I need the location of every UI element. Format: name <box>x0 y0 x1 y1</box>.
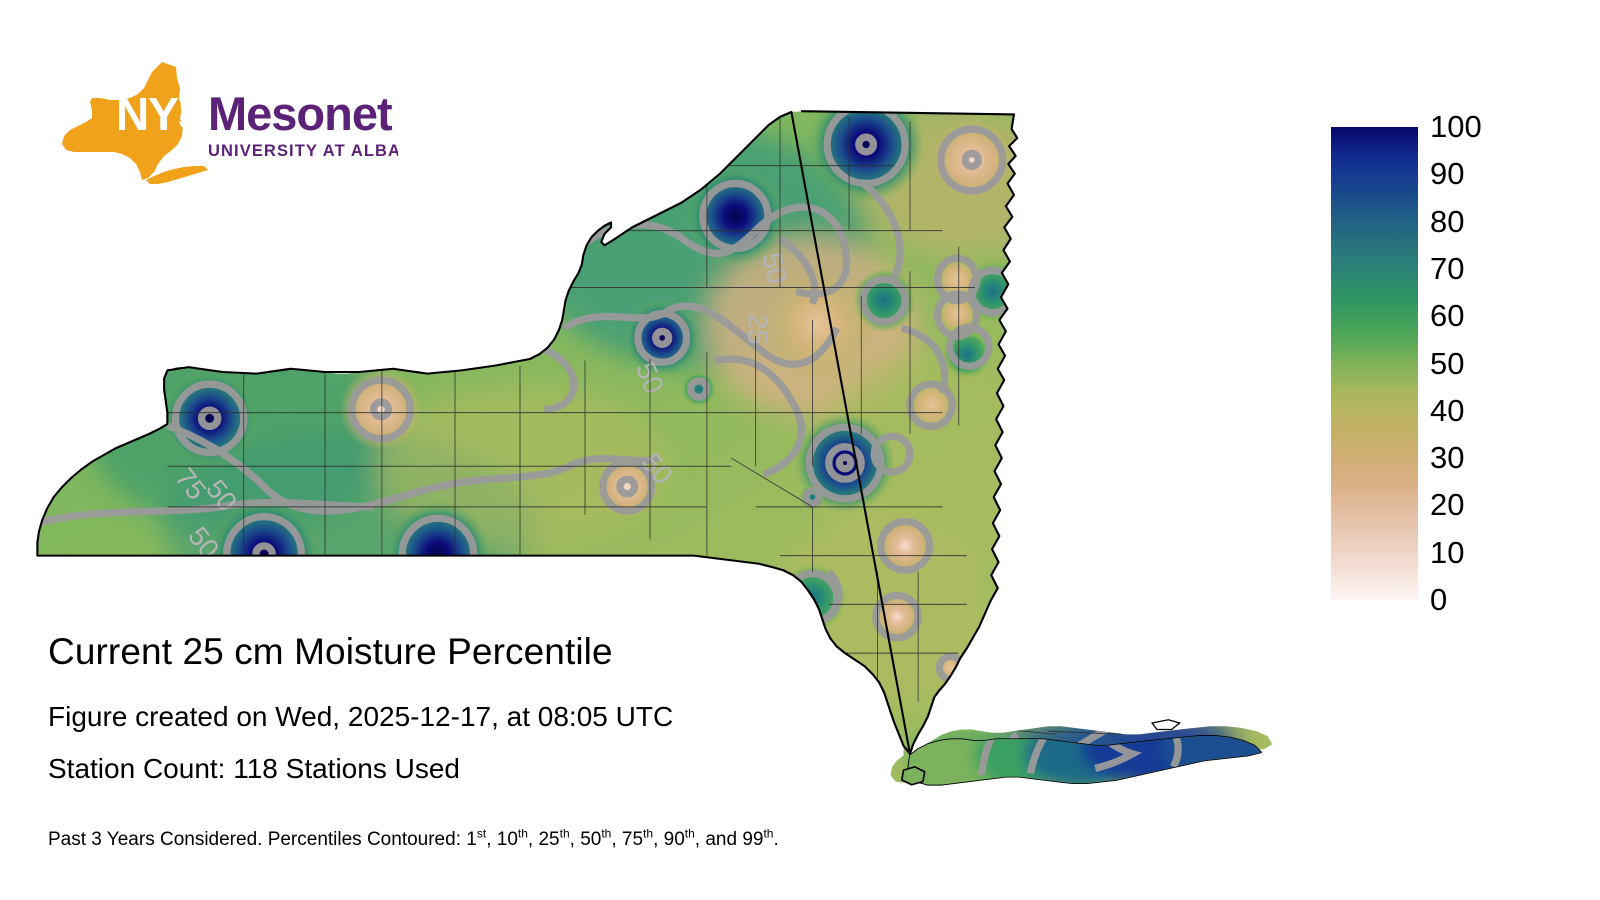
logo-mesonet-text: Mesonet <box>208 87 393 140</box>
percentile-value: 10 <box>497 829 518 850</box>
percentile-value: 99 <box>742 829 763 850</box>
long-island <box>894 713 1284 799</box>
percentile-value: 1 <box>466 829 477 850</box>
colorbar-tick-10: 10 <box>1430 537 1464 568</box>
colorbar-tick-80: 80 <box>1430 206 1464 237</box>
ordinal-suffix: th <box>685 827 695 841</box>
creation-timestamp: Figure created on Wed, 2025-12-17, at 08… <box>48 700 673 734</box>
percentile-footnote: Past 3 Years Considered. Percentiles Con… <box>48 828 779 852</box>
colorbar-tick-30: 30 <box>1430 442 1464 473</box>
page-title: Current 25 cm Moisture Percentile <box>48 630 613 674</box>
colorbar-tick-60: 60 <box>1430 300 1464 331</box>
colorbar-tick-70: 70 <box>1430 253 1464 284</box>
percentile-value: 75 <box>622 829 643 850</box>
colorbar-tick-100: 100 <box>1430 111 1482 142</box>
svg-text:25: 25 <box>742 313 774 345</box>
logo-tagline-text: UNIVERSITY AT ALBANY <box>208 142 398 160</box>
ordinal-suffix: st <box>477 827 486 841</box>
ordinal-suffix: th <box>763 827 773 841</box>
percentile-value: 25 <box>538 829 559 850</box>
svg-text:50: 50 <box>756 250 793 286</box>
nys-mesonet-logo: NYS Mesonet UNIVERSITY AT ALBANY <box>58 60 398 190</box>
colorbar-tick-90: 90 <box>1430 158 1464 189</box>
logo-nys-text: NYS <box>116 88 208 140</box>
ordinal-suffix: th <box>601 827 611 841</box>
percentile-value: 90 <box>664 829 685 850</box>
colorbar-tick-50: 50 <box>1430 348 1464 379</box>
colorbar-gradient <box>1331 127 1418 600</box>
colorbar-tick-0: 0 <box>1430 584 1447 615</box>
ordinal-suffix: th <box>518 827 528 841</box>
ordinal-suffix: th <box>643 827 653 841</box>
percentile-value: 50 <box>580 829 601 850</box>
colorbar-tick-20: 20 <box>1430 489 1464 520</box>
ordinal-suffix: th <box>560 827 570 841</box>
colorbar-tick-labels: 1009080706050403020100 <box>1430 100 1550 640</box>
station-count: Station Count: 118 Stations Used <box>48 752 460 786</box>
colorbar-tick-40: 40 <box>1430 395 1464 426</box>
